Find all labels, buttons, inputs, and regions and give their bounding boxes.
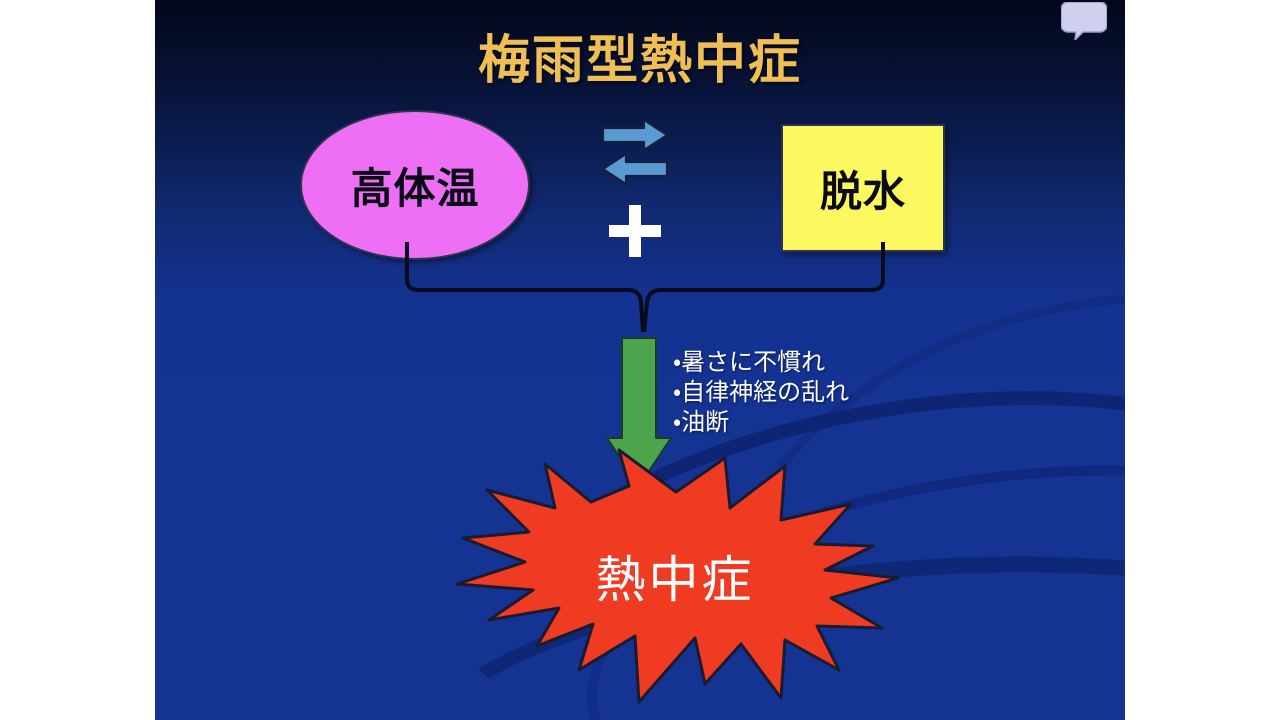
node-dehydration[interactable]: 脱水 [781, 124, 945, 252]
factor-list-item: ・自律神経の乱れ [673, 378, 953, 408]
factor-list-item: ・油断 [673, 408, 953, 438]
node-dehydration-label: 脱水 [820, 158, 906, 219]
comment-bubble-icon[interactable] [1061, 2, 1107, 40]
exchange-arrow-right-icon [602, 118, 668, 152]
node-high-temperature[interactable]: 高体温 [300, 110, 530, 260]
screenshot-stage: 梅雨型熱中症 高体温 脱水 [0, 0, 1280, 720]
factor-list-item: ・暑さに不慣れ [673, 348, 953, 378]
node-heatstroke-label: 熱中症 [433, 448, 903, 704]
exchange-arrow-right-glyph [602, 118, 668, 152]
comment-bubble-glyph [1061, 2, 1107, 40]
exchange-arrow-left-glyph [602, 152, 668, 186]
presentation-slide: 梅雨型熱中症 高体温 脱水 [155, 0, 1125, 720]
node-heatstroke[interactable]: 熱中症 [433, 448, 903, 704]
slide-title: 梅雨型熱中症 [155, 18, 1125, 93]
bracket-connector-glyph [385, 240, 905, 350]
node-high-temperature-label: 高体温 [350, 155, 479, 216]
bracket-connector [385, 240, 905, 350]
exchange-arrow-left-icon [602, 152, 668, 186]
factor-list: ・暑さに不慣れ ・自律神経の乱れ ・油断 [673, 348, 953, 438]
